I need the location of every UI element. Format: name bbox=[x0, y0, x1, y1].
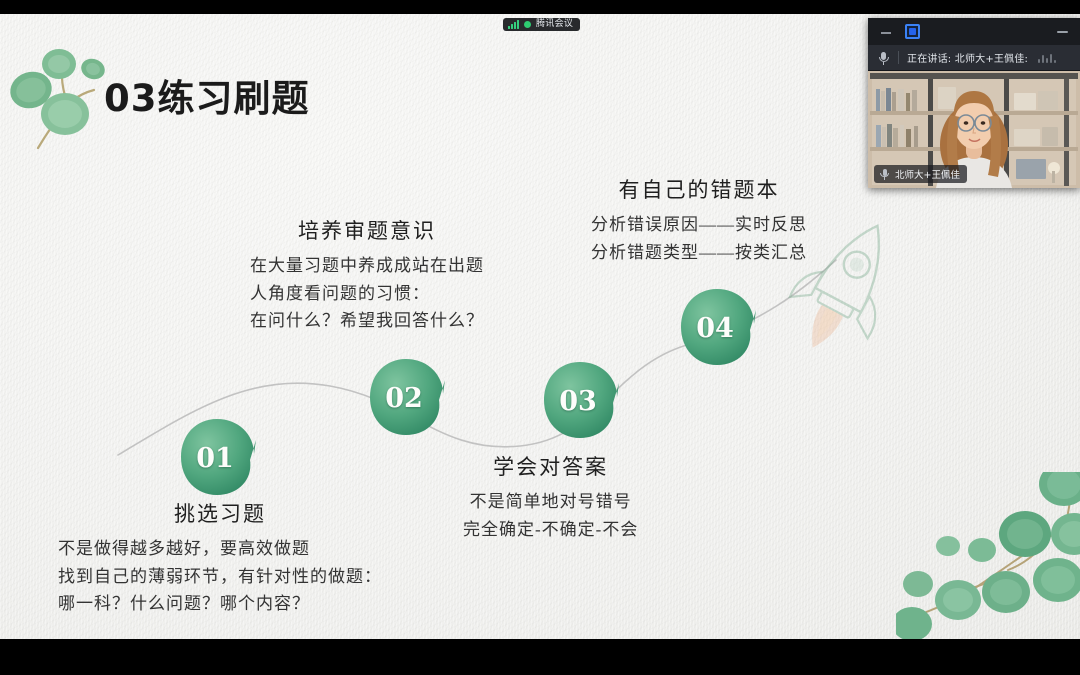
step-badge-01[interactable]: 01 bbox=[176, 416, 258, 498]
step-line: 在大量习题中养成成站在出题 bbox=[250, 252, 484, 280]
step-text-block-02: 培养审题意识 在大量习题中养成成站在出题 人角度看问题的习惯： 在问什么？希望我… bbox=[250, 215, 484, 335]
list-icon[interactable] bbox=[1055, 26, 1070, 38]
top-letterbox-bar bbox=[0, 0, 1080, 14]
step-badge-02[interactable]: 02 bbox=[365, 356, 447, 438]
eucalyptus-branch-decoration bbox=[896, 472, 1080, 639]
step-line: 不是简单地对号错号 bbox=[463, 488, 638, 516]
step-heading: 挑选习题 bbox=[58, 498, 382, 528]
green-dot-icon bbox=[524, 21, 531, 28]
step-text-block-01: 挑选习题 不是做得越多越好，要高效做题 找到自己的薄弱环节，有针对性的做题： 哪… bbox=[58, 498, 382, 618]
hamburger-menu-icon[interactable] bbox=[933, 26, 947, 38]
participant-video-feed[interactable]: 北师大+王佩佳 bbox=[868, 71, 1080, 188]
divider bbox=[898, 51, 899, 64]
meeting-chip-label: 腾讯会议 bbox=[536, 20, 573, 29]
step-line: 哪一科？什么问题？哪个内容？ bbox=[58, 590, 382, 618]
step-line: 分析错题类型——按类汇总 bbox=[591, 239, 807, 267]
step-line: 找到自己的薄弱环节，有针对性的做题： bbox=[58, 563, 382, 591]
page-title: 03练习刷题 bbox=[104, 68, 310, 122]
step-badge-label: 02 bbox=[365, 356, 447, 438]
microphone-icon bbox=[879, 168, 890, 180]
speaking-status-label: 正在讲话: 北师大+王佩佳: bbox=[907, 50, 1028, 65]
participant-name-label: 北师大+王佩佳 bbox=[895, 167, 960, 181]
step-heading: 培养审题意识 bbox=[250, 215, 484, 245]
meeting-status-chip[interactable]: 腾讯会议 bbox=[503, 18, 580, 31]
step-text-block-03: 学会对答案 不是简单地对号错号 完全确定-不确定-不会 bbox=[463, 451, 638, 543]
step-line: 完全确定-不确定-不会 bbox=[463, 516, 638, 544]
step-heading: 有自己的错题本 bbox=[591, 174, 807, 204]
step-badge-03[interactable]: 03 bbox=[539, 359, 621, 441]
step-line: 不是做得越多越好，要高效做题 bbox=[58, 535, 382, 563]
step-line: 人角度看问题的习惯： bbox=[250, 280, 484, 308]
step-badge-label: 04 bbox=[676, 286, 758, 368]
minimize-icon[interactable] bbox=[880, 26, 892, 38]
step-text-block-04: 有自己的错题本 分析错误原因——实时反思 分析错题类型——按类汇总 bbox=[591, 174, 807, 266]
video-panel[interactable]: 正在讲话: 北师大+王佩佳: bbox=[868, 18, 1080, 188]
step-line: 分析错误原因——实时反思 bbox=[591, 211, 807, 239]
restore-window-icon[interactable] bbox=[905, 24, 920, 39]
participant-name-badge: 北师大+王佩佳 bbox=[874, 165, 967, 183]
screen-share-root: 腾讯会议 bbox=[0, 0, 1080, 675]
step-heading: 学会对答案 bbox=[463, 451, 638, 481]
video-panel-titlebar bbox=[868, 18, 1080, 45]
step-badge-label: 01 bbox=[176, 416, 258, 498]
speaking-status-bar: 正在讲话: 北师大+王佩佳: bbox=[868, 45, 1080, 71]
microphone-icon bbox=[877, 51, 890, 65]
step-line: 在问什么？希望我回答什么？ bbox=[250, 307, 484, 335]
step-badge-label: 03 bbox=[539, 359, 621, 441]
step-badge-04[interactable]: 04 bbox=[676, 286, 758, 368]
signal-bars-icon bbox=[508, 20, 519, 29]
bottom-letterbox-bar bbox=[0, 639, 1080, 675]
audio-waveform-icon bbox=[1038, 53, 1056, 63]
